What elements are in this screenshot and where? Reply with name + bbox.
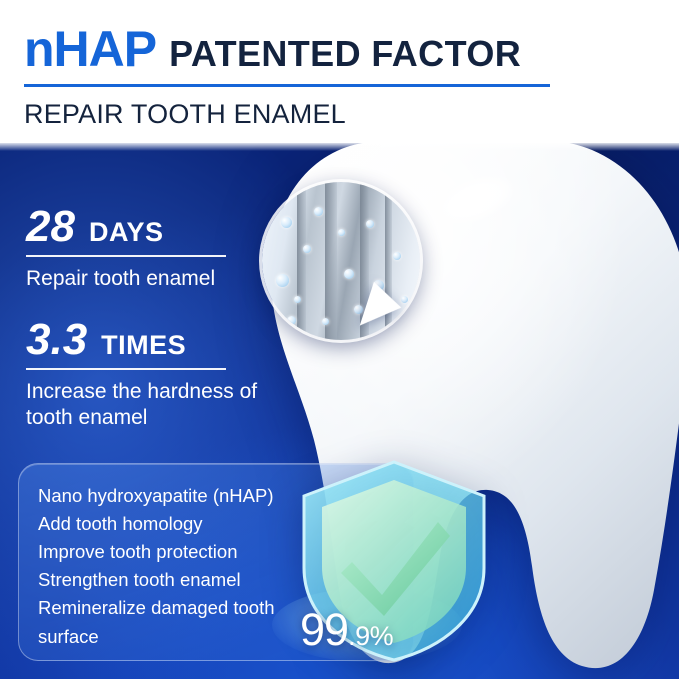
header-band: nHAP PATENTED FACTOR REPAIR TOOTH ENAMEL (0, 0, 679, 143)
efficacy-integer: 99 (300, 604, 348, 656)
stat-times: 3.3 TIMES Increase the hardness of tooth… (26, 318, 257, 430)
stat-times-value: 3.3 (26, 318, 87, 362)
stat-times-unit: TIMES (101, 330, 186, 361)
subtitle: REPAIR TOOTH ENAMEL (24, 99, 346, 130)
stat-days-line: 28 DAYS (26, 205, 226, 249)
efficacy-decimal: .9% (348, 621, 393, 652)
efficacy-badge: 99 .9% (300, 604, 393, 656)
stat-days-unit: DAYS (89, 217, 164, 248)
stat-days-description: Repair tooth enamel (26, 266, 226, 292)
stat-times-divider (26, 368, 226, 370)
brand-name: nHAP (24, 24, 156, 74)
stat-days-divider (26, 255, 226, 257)
enamel-magnifier-icon (262, 182, 420, 340)
title-row: nHAP PATENTED FACTOR (24, 24, 521, 74)
stat-times-line: 3.3 TIMES (26, 318, 257, 362)
stat-times-description: Increase the hardness of tooth enamel (26, 379, 257, 430)
stat-days: 28 DAYS Repair tooth enamel (26, 205, 226, 292)
stat-days-value: 28 (26, 205, 75, 249)
title-divider (24, 84, 550, 87)
product-infographic: nHAP PATENTED FACTOR REPAIR TOOTH ENAMEL… (0, 0, 679, 679)
headline: PATENTED FACTOR (169, 36, 521, 72)
